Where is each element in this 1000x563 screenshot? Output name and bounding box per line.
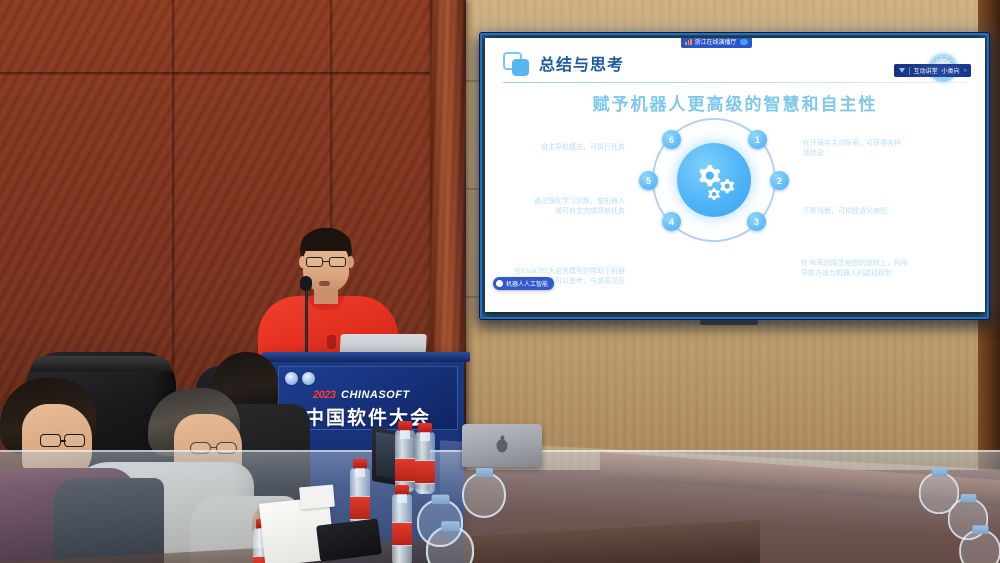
slide-divider <box>503 82 967 83</box>
wall-seam <box>0 72 452 75</box>
water-bottle[interactable] <box>415 432 435 494</box>
microphone-stand <box>305 283 308 363</box>
cloud-icon <box>740 39 748 45</box>
attendee-left-glasses <box>40 434 86 448</box>
screen-mount-bar <box>700 320 758 325</box>
nameplate-holder[interactable] <box>426 526 474 563</box>
diagram-label-3: 在 布局的陌生地图的基础上，利用 导航方法为机器人的路径规划 <box>801 258 979 278</box>
banner-english-title: CHINASOFT <box>341 389 410 401</box>
nameplate-holder[interactable] <box>462 472 506 518</box>
slide-title: 总结与思考 <box>539 51 624 75</box>
nameplate-holder[interactable] <box>959 529 1000 563</box>
chevron-left-icon[interactable]: « <box>964 68 966 74</box>
diagram-node-3[interactable]: 3 <box>747 212 766 231</box>
stacked-squares-icon <box>503 52 530 77</box>
speaker-mouth <box>319 281 330 286</box>
podium-top-surface <box>262 352 470 362</box>
diagram-node-1[interactable]: 1 <box>748 130 767 149</box>
status-badge: 机器人人工智能 <box>493 277 554 290</box>
channel-overlay-bar: 互动讲堂 小类向 « <box>894 64 971 77</box>
paper-card[interactable] <box>299 485 335 510</box>
diagram-node-4[interactable]: 4 <box>662 212 681 231</box>
speaker-shirt-logo <box>327 335 336 349</box>
speaker-glasses <box>304 256 350 268</box>
water-bottle[interactable] <box>395 430 415 492</box>
chair-headrest <box>30 356 172 372</box>
broadcast-overlay-label: 浙江在线演播厅 <box>695 38 737 46</box>
download-arrow-icon[interactable] <box>899 68 905 73</box>
apple-logo-icon <box>497 439 508 452</box>
smartphone[interactable] <box>316 518 382 561</box>
seal-logo-left-icon <box>285 372 298 385</box>
channel-overlay-label: 互动讲堂 <box>914 66 938 75</box>
macbook-laptop[interactable] <box>462 424 542 467</box>
wall-seam <box>172 0 175 72</box>
water-bottle[interactable] <box>392 494 412 563</box>
diagram-label-2: 不断场景，可构建语义地图 <box>803 206 973 216</box>
signal-bars-icon <box>685 39 692 45</box>
diagram-label-5: 通过强化学习训练，使机器人 或可自主完成导航任务 <box>495 196 625 216</box>
record-dot-icon <box>496 280 503 287</box>
presentation-screen[interactable]: 总结与思考 赋予机器人更高级的智慧和自主性 自主导航模式，可执行任务 通过强化学… <box>485 38 985 312</box>
broadcast-overlay-pill: 浙江在线演播厅 <box>681 38 752 48</box>
seal-logo-right-icon <box>302 372 315 385</box>
status-badge-label: 机器人人工智能 <box>506 279 548 288</box>
conference-room-scene: 总结与思考 赋予机器人更高级的智慧和自主性 自主导航模式，可执行任务 通过强化学… <box>0 0 1000 563</box>
circular-hub-diagram: 1 2 3 4 5 6 <box>627 114 801 246</box>
diagram-label-1: 在环境中主动探索，可获得各种 感信息 <box>803 138 973 158</box>
diagram-label-6: 自主导航模式，可执行任务 <box>503 142 625 152</box>
slide-canvas: 总结与思考 赋予机器人更高级的智慧和自主性 自主导航模式，可执行任务 通过强化学… <box>485 38 985 312</box>
diagram-node-2[interactable]: 2 <box>770 171 789 190</box>
channel-overlay-label2: 小类向 <box>942 66 960 75</box>
speaker-hair-fringe <box>301 232 351 251</box>
slide-heading: 赋予机器人更高级的智慧和自主性 <box>485 90 985 115</box>
diagram-node-5[interactable]: 5 <box>639 171 658 190</box>
banner-year: 2023 <box>313 389 335 401</box>
gooseneck-microphone <box>300 276 312 291</box>
diagram-node-6[interactable]: 6 <box>662 130 681 149</box>
podium-seal-group <box>285 372 315 385</box>
gears-icon <box>677 143 751 217</box>
